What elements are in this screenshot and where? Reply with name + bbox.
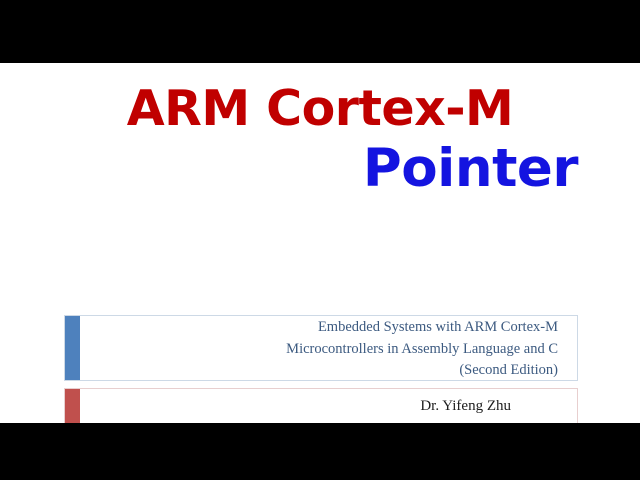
book-title-line-1: Embedded Systems with ARM Cortex-M	[86, 317, 558, 339]
book-title-line-2: Microcontrollers in Assembly Language an…	[86, 339, 558, 361]
book-citation-box: Embedded Systems with ARM Cortex-M Micro…	[64, 315, 578, 381]
slide-canvas: ARM Cortex-M Pointer Embedded Systems wi…	[0, 63, 640, 423]
letterbox-bottom	[0, 423, 640, 480]
author-box: Dr. Yifeng Zhu	[64, 388, 578, 423]
letterbox-top	[0, 0, 640, 63]
book-edition-line: (Second Edition)	[86, 360, 558, 382]
page-title: ARM Cortex-M	[0, 80, 640, 138]
book-citation-text: Embedded Systems with ARM Cortex-M Micro…	[80, 316, 577, 380]
author-accent-bar	[65, 389, 80, 423]
book-accent-bar	[65, 316, 80, 380]
author-name: Dr. Yifeng Zhu	[80, 389, 577, 423]
presentation-stage: ARM Cortex-M Pointer Embedded Systems wi…	[0, 0, 640, 480]
title-block: ARM Cortex-M Pointer	[0, 80, 640, 200]
page-subtitle: Pointer	[0, 138, 640, 200]
